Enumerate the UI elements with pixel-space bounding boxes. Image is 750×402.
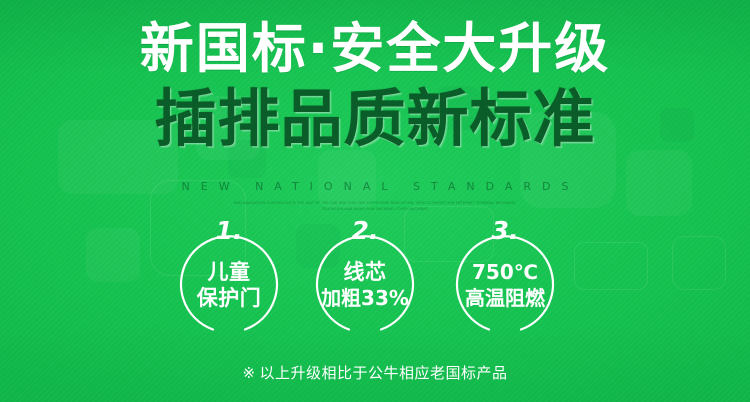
headline-primary: 新国标·安全大升级 — [0, 22, 750, 76]
badge-line-3a: 750℃ — [452, 259, 558, 285]
badge-line-3b: 高温阻燃 — [452, 285, 558, 311]
badge-line-1a: 儿童 — [176, 259, 282, 285]
microtext-block: BVD NAVIGATION CONTROLLER IS THE UNIT OF… — [0, 201, 750, 212]
feature-badge-row: 1. 儿童 保护门 2. 线芯 加粗33% — [0, 232, 750, 352]
banner-content: 新国标·安全大升级 插排品质新标准 NEW NATIONAL STANDARDS… — [0, 0, 750, 402]
footnote-mark-icon: ※ — [242, 364, 255, 382]
badge-line-2b: 加粗33% — [312, 285, 418, 311]
badge-number-1: 1. — [176, 218, 282, 243]
badge-line-1b: 保护门 — [176, 285, 282, 311]
badge-line-2a: 线芯 — [312, 259, 418, 285]
badge-number-3: 3. — [452, 218, 558, 243]
feature-badge-2: 2. 线芯 加粗33% — [312, 232, 418, 338]
promo-banner: 新国标·安全大升级 插排品质新标准 NEW NATIONAL STANDARDS… — [0, 0, 750, 402]
microtext-line-2: TELEVISION AND VIDEO PLAY BACKAND OTHER … — [260, 207, 490, 213]
headline-secondary: 插排品质新标准 — [0, 88, 750, 150]
footnote-text: 以上升级相比于公牛相应老国标产品 — [260, 364, 508, 382]
badge-text-1: 儿童 保护门 — [176, 259, 282, 311]
subtitle-english: NEW NATIONAL STANDARDS — [0, 180, 750, 193]
microtext-line-1: BVD NAVIGATION CONTROLLER IS THE UNIT OF… — [210, 201, 540, 207]
badge-text-2: 线芯 加粗33% — [312, 259, 418, 311]
footnote: ※以上升级相比于公牛相应老国标产品 — [0, 362, 750, 383]
feature-badge-3: 3. 750℃ 高温阻燃 — [452, 232, 558, 338]
badge-number-2: 2. — [312, 218, 418, 243]
feature-badge-1: 1. 儿童 保护门 — [176, 232, 282, 338]
badge-text-3: 750℃ 高温阻燃 — [452, 259, 558, 311]
